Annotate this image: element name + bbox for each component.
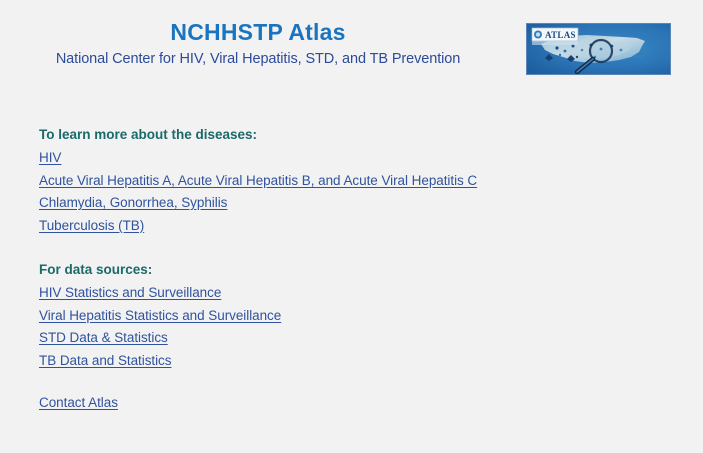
section-data-sources: For data sources: HIV Statistics and Sur… [39,259,659,372]
link-hiv-statistics-surveillance[interactable]: HIV Statistics and Surveillance [39,285,221,300]
link-tuberculosis[interactable]: Tuberculosis (TB) [39,218,144,233]
section-spacer [39,237,659,259]
atlas-map-logo: ATLAS [526,23,671,75]
page-subtitle: National Center for HIV, Viral Hepatitis… [0,49,516,69]
list-item: Acute Viral Hepatitis A, Acute Viral Hep… [39,170,659,193]
link-chlamydia-gonorrhea-syphilis[interactable]: Chlamydia, Gonorrhea, Syphilis [39,195,227,210]
section-diseases: To learn more about the diseases: HIV Ac… [39,124,659,237]
svg-text:ATLAS: ATLAS [545,30,576,40]
page-title: NCHHSTP Atlas [0,18,516,46]
section-heading-data-sources: For data sources: [39,259,659,281]
link-tb-data-statistics[interactable]: TB Data and Statistics [39,353,171,368]
link-hiv[interactable]: HIV [39,150,61,165]
list-item: Tuberculosis (TB) [39,215,659,238]
list-item: STD Data & Statistics [39,327,659,350]
list-item: TB Data and Statistics [39,350,659,373]
list-item: HIV Statistics and Surveillance [39,282,659,305]
list-item: Viral Hepatitis Statistics and Surveilla… [39,305,659,328]
list-item: Chlamydia, Gonorrhea, Syphilis [39,192,659,215]
section-heading-diseases: To learn more about the diseases: [39,124,659,146]
link-viral-hepatitis-statistics-surveillance[interactable]: Viral Hepatitis Statistics and Surveilla… [39,308,281,323]
main-content: To learn more about the diseases: HIV Ac… [39,124,659,415]
atlas-landing-page: NCHHSTP Atlas National Center for HIV, V… [0,0,703,453]
link-std-data-statistics[interactable]: STD Data & Statistics [39,330,168,345]
list-item: Contact Atlas [39,392,659,415]
link-acute-viral-hepatitis[interactable]: Acute Viral Hepatitis A, Acute Viral Hep… [39,173,477,188]
header-title-block: NCHHSTP Atlas National Center for HIV, V… [0,18,516,69]
footer-spacer [39,372,659,392]
page-header: NCHHSTP Atlas National Center for HIV, V… [0,0,703,90]
map-logo-graphic: ATLAS [527,24,670,74]
list-item: HIV [39,147,659,170]
link-contact-atlas[interactable]: Contact Atlas [39,395,118,410]
